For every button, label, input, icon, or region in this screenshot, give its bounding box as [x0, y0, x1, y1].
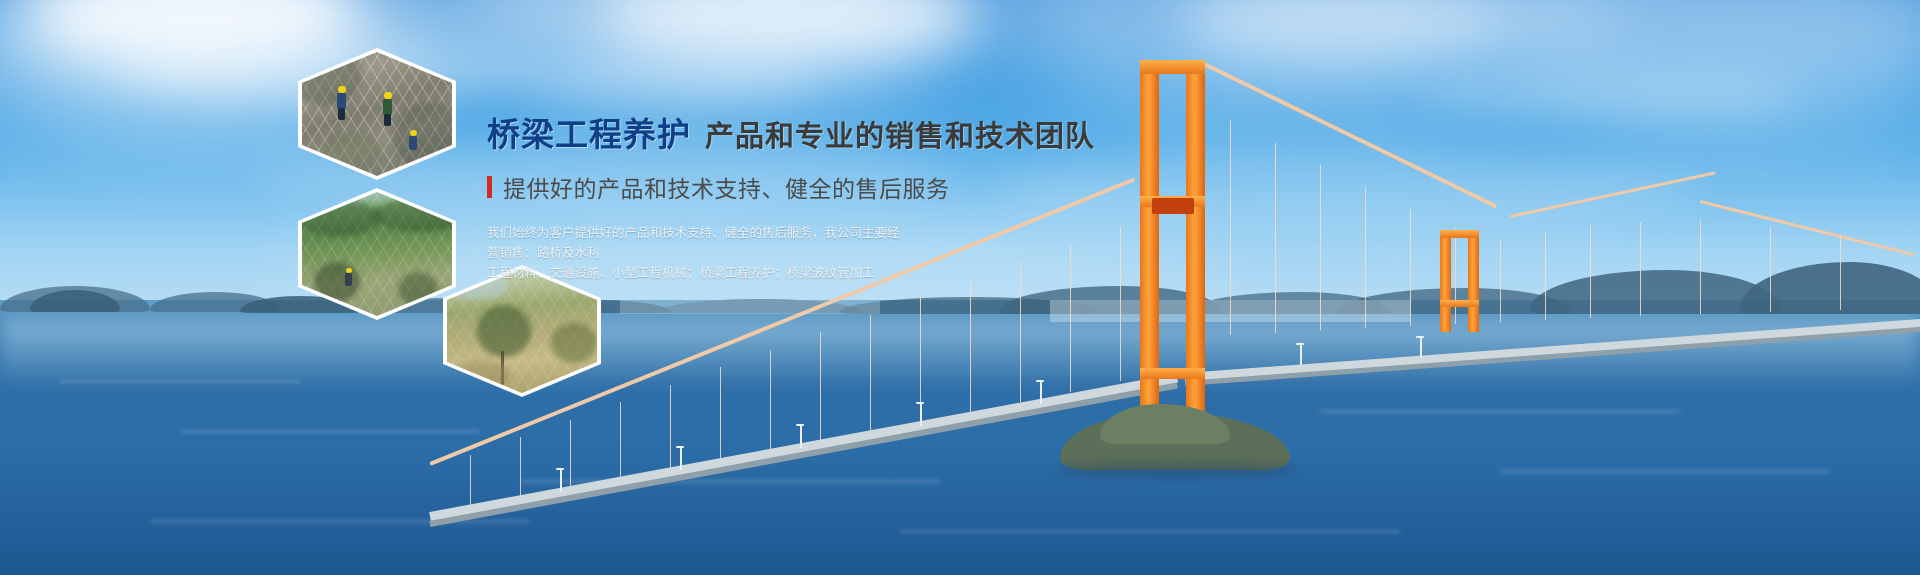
bridge-hanger — [1590, 225, 1591, 318]
bridge-hanger — [1410, 209, 1411, 326]
worker-body — [337, 93, 346, 109]
bridge-hanger — [1840, 236, 1841, 310]
shrub — [398, 272, 438, 306]
bridge-tower-crossbeam — [1140, 368, 1205, 379]
bridge-tower-leg — [1440, 230, 1451, 332]
hex-photo-inner — [302, 192, 452, 316]
bridge-hanger — [870, 315, 871, 435]
hex-photo-3[interactable] — [443, 265, 601, 397]
tree — [477, 305, 531, 357]
bridge-tower-crossbeam — [1440, 230, 1479, 238]
bridge-lamp-head — [676, 446, 684, 448]
bridge-tower-leg — [1468, 230, 1479, 332]
bridge-hanger — [970, 280, 971, 413]
worker-body — [345, 273, 352, 286]
hero-text-block: 桥梁工程养护产品和专业的销售和技术团队 提供好的产品和技术支持、健全的售后服务 … — [487, 118, 1227, 283]
water-highlight — [900, 530, 1400, 533]
description-line-1: 我们始终为客户提供好的产品和技术支持、健全的售后服务，我公司主要经营销售：路桥及… — [487, 223, 907, 263]
bridge-lamp — [560, 470, 562, 492]
bridge-tower-crossbeam — [1140, 60, 1205, 74]
shrub — [551, 323, 597, 363]
bridge-hanger — [1545, 232, 1546, 320]
bridge-lamp-head — [796, 424, 804, 426]
photo-green-slope-mesh — [302, 192, 452, 316]
water-highlight — [180, 430, 480, 433]
bridge-hanger — [670, 385, 671, 477]
worker-helmet — [338, 86, 346, 93]
description-paragraph: 我们始终为客户提供好的产品和技术支持、健全的售后服务，我公司主要经营销售：路桥及… — [487, 223, 907, 283]
bridge-lamp-head — [1296, 343, 1304, 345]
bridge-hanger — [1640, 222, 1641, 316]
bridge-lamp-head — [1036, 380, 1044, 382]
bridge-lamp — [680, 448, 682, 470]
bridge-hanger — [1500, 240, 1501, 322]
bridge-hanger — [720, 367, 721, 467]
bridge-lamp-head — [916, 402, 924, 404]
bridge-hanger — [1275, 143, 1276, 333]
photo-rock-slope-mesh-installation — [302, 52, 452, 176]
bridge-lamp — [1040, 382, 1042, 404]
accent-bar — [487, 176, 492, 198]
hex-photo-1[interactable] — [298, 48, 456, 180]
bridge-lamp-head — [1416, 336, 1424, 338]
headline: 桥梁工程养护产品和专业的销售和技术团队 — [487, 118, 1227, 152]
bridge-hanger — [1020, 262, 1021, 402]
bridge-hanger — [820, 332, 821, 445]
cloud — [1420, 70, 1800, 120]
subheadline: 提供好的产品和技术支持、健全的售后服务 — [503, 170, 950, 204]
bridge-tower-crossbeam — [1440, 300, 1479, 307]
headline-secondary: 产品和专业的销售和技术团队 — [705, 121, 1095, 153]
hex-photo-inner — [447, 269, 597, 393]
bridge-lamp — [920, 404, 922, 426]
water-highlight — [60, 380, 300, 383]
bridge-hanger — [770, 350, 771, 456]
bridge-lamp-head — [556, 468, 564, 470]
description-line-2: 工程材料、交通设施、小型工程机械；桥梁工程养护；桥梁波纹管加工 — [487, 263, 907, 283]
headline-primary: 桥梁工程养护 — [487, 116, 691, 153]
bridge-hanger — [1455, 228, 1456, 324]
distant-city — [620, 300, 880, 314]
bridge-lamp — [800, 426, 802, 448]
water-highlight — [150, 520, 530, 523]
bridge-hanger — [620, 402, 621, 487]
bridge-lamp — [1300, 345, 1302, 365]
vegetation-patch — [322, 130, 382, 174]
bridge-hanger — [1365, 187, 1366, 328]
hero-banner: 桥梁工程养护产品和专业的销售和技术团队 提供好的产品和技术支持、健全的售后服务 … — [0, 0, 1920, 575]
water-highlight — [1320, 410, 1680, 413]
worker-body — [409, 136, 417, 150]
water-highlight — [1500, 470, 1830, 473]
cloud — [520, 55, 820, 101]
dry-ground — [451, 361, 511, 391]
bridge-hanger — [1770, 226, 1771, 312]
bridge-hanger — [1320, 165, 1321, 330]
worker-body — [383, 99, 392, 115]
worker-legs — [384, 114, 391, 126]
bridge-lamp — [1420, 338, 1422, 358]
worker-legs — [338, 108, 345, 120]
bridge-hanger — [1230, 120, 1231, 335]
hex-photo-2[interactable] — [298, 188, 456, 320]
photo-dry-slope-vegetation-mesh — [447, 269, 597, 393]
island-reflection — [1055, 462, 1300, 478]
worker-helmet — [384, 92, 392, 99]
hex-photo-inner — [302, 52, 452, 176]
bridge-hanger — [1700, 220, 1701, 314]
shrub — [314, 262, 360, 302]
subheadline-row: 提供好的产品和技术支持、健全的售后服务 — [487, 170, 1227, 204]
